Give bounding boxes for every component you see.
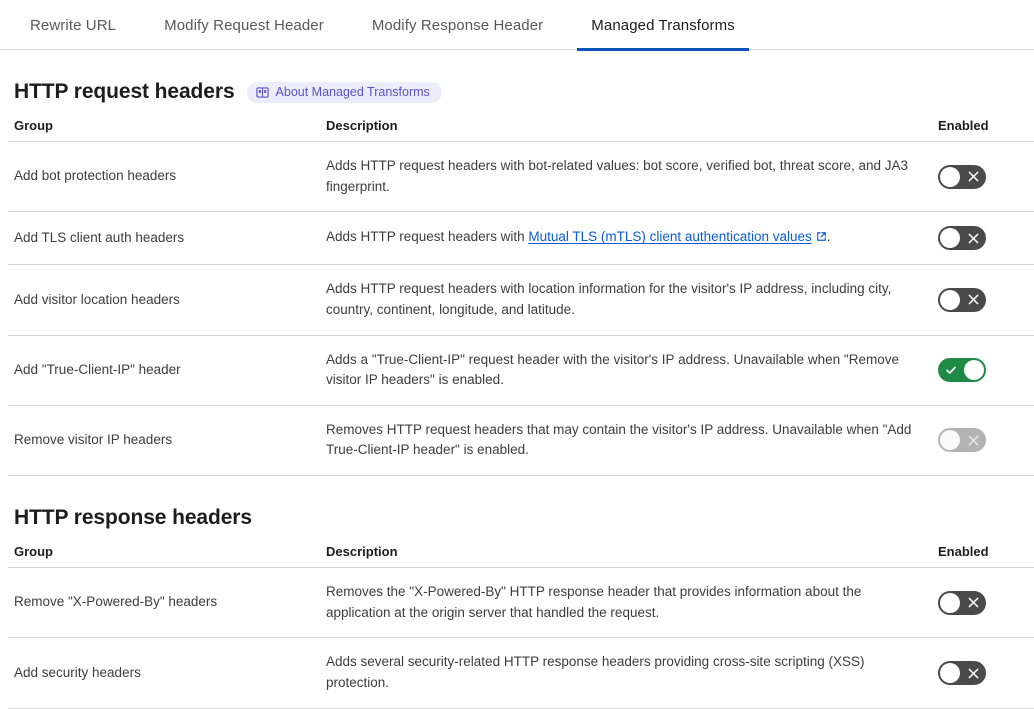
close-icon: [960, 591, 986, 615]
column-header-enabled: Enabled: [932, 118, 1034, 142]
close-icon: [960, 428, 986, 452]
enabled-toggle[interactable]: [938, 226, 986, 250]
row-enabled-cell: [932, 568, 1034, 638]
column-header-group: Group: [8, 118, 320, 142]
tab-modify-request-header[interactable]: Modify Request Header: [150, 0, 338, 50]
row-enabled-cell: [932, 142, 1034, 212]
section-http-response-headers: HTTP response headers Group Description …: [0, 506, 1034, 709]
description-suffix: .: [827, 229, 831, 244]
enabled-toggle[interactable]: [938, 358, 986, 382]
tab-label: Rewrite URL: [30, 17, 116, 34]
table-row: Add bot protection headers Adds HTTP req…: [8, 142, 1034, 212]
close-icon: [960, 661, 986, 685]
row-description: Adds a "True-Client-IP" request header w…: [320, 335, 932, 405]
table-row: Remove "X-Powered-By" headers Removes th…: [8, 568, 1034, 638]
enabled-toggle[interactable]: [938, 591, 986, 615]
toggle-knob: [940, 167, 960, 187]
about-managed-transforms-button[interactable]: About Managed Transforms: [247, 82, 442, 103]
about-pill-label: About Managed Transforms: [276, 86, 430, 99]
section-http-request-headers: HTTP request headers About Managed Trans…: [0, 80, 1034, 476]
section-title: HTTP response headers: [14, 506, 252, 530]
tab-label: Managed Transforms: [591, 17, 735, 34]
tab-managed-transforms[interactable]: Managed Transforms: [577, 0, 749, 50]
tab-label: Modify Response Header: [372, 17, 543, 34]
description-prefix: Adds HTTP request headers with: [326, 229, 528, 244]
column-header-enabled: Enabled: [932, 544, 1034, 568]
table-row: Add "True-Client-IP" header Adds a "True…: [8, 335, 1034, 405]
page-content: HTTP request headers About Managed Trans…: [0, 80, 1034, 709]
enabled-toggle[interactable]: [938, 661, 986, 685]
toggle-knob: [940, 290, 960, 310]
toggle-knob: [940, 593, 960, 613]
row-description: Removes HTTP request headers that may co…: [320, 405, 932, 475]
row-group-name: Add "True-Client-IP" header: [8, 335, 320, 405]
tab-label: Modify Request Header: [164, 17, 324, 34]
table-row: Add visitor location headers Adds HTTP r…: [8, 265, 1034, 335]
tab-modify-response-header[interactable]: Modify Response Header: [358, 0, 557, 50]
section-title: HTTP request headers: [14, 80, 235, 104]
external-link-icon[interactable]: [816, 228, 827, 249]
close-icon: [960, 288, 986, 312]
mutual-tls-link[interactable]: Mutual TLS (mTLS) client authentication …: [528, 229, 811, 244]
toggle-knob: [940, 430, 960, 450]
row-description: Adds several security-related HTTP respo…: [320, 638, 932, 708]
column-header-description: Description: [320, 118, 932, 142]
close-icon: [960, 165, 986, 189]
section-header: HTTP response headers: [8, 506, 1026, 530]
row-description: Adds HTTP request headers with bot-relat…: [320, 142, 932, 212]
close-icon: [960, 226, 986, 250]
table-row: Remove visitor IP headers Removes HTTP r…: [8, 405, 1034, 475]
row-description: Adds HTTP request headers with Mutual TL…: [320, 212, 932, 265]
row-enabled-cell: [932, 638, 1034, 708]
request-headers-table: Group Description Enabled Add bot protec…: [8, 118, 1034, 476]
column-header-description: Description: [320, 544, 932, 568]
check-icon: [938, 358, 964, 382]
table-row: Add security headers Adds several securi…: [8, 638, 1034, 708]
row-enabled-cell: [932, 212, 1034, 265]
row-group-name: Add visitor location headers: [8, 265, 320, 335]
row-group-name: Add bot protection headers: [8, 142, 320, 212]
enabled-toggle-disabled: [938, 428, 986, 452]
table-header-row: Group Description Enabled: [8, 544, 1034, 568]
toggle-knob: [940, 228, 960, 248]
tab-bar: Rewrite URL Modify Request Header Modify…: [0, 0, 1034, 50]
row-description: Removes the "X-Powered-By" HTTP response…: [320, 568, 932, 638]
table-row: Add TLS client auth headers Adds HTTP re…: [8, 212, 1034, 265]
table-header-row: Group Description Enabled: [8, 118, 1034, 142]
book-icon: [256, 86, 269, 99]
enabled-toggle[interactable]: [938, 288, 986, 312]
enabled-toggle[interactable]: [938, 165, 986, 189]
row-enabled-cell: [932, 335, 1034, 405]
row-enabled-cell: [932, 265, 1034, 335]
row-description: Adds HTTP request headers with location …: [320, 265, 932, 335]
row-group-name: Remove "X-Powered-By" headers: [8, 568, 320, 638]
row-group-name: Add security headers: [8, 638, 320, 708]
row-enabled-cell: [932, 405, 1034, 475]
section-header: HTTP request headers About Managed Trans…: [8, 80, 1026, 104]
row-group-name: Add TLS client auth headers: [8, 212, 320, 265]
toggle-knob: [940, 663, 960, 683]
column-header-group: Group: [8, 544, 320, 568]
response-headers-table: Group Description Enabled Remove "X-Powe…: [8, 544, 1034, 709]
tab-rewrite-url[interactable]: Rewrite URL: [16, 0, 130, 50]
row-group-name: Remove visitor IP headers: [8, 405, 320, 475]
toggle-knob: [964, 360, 984, 380]
